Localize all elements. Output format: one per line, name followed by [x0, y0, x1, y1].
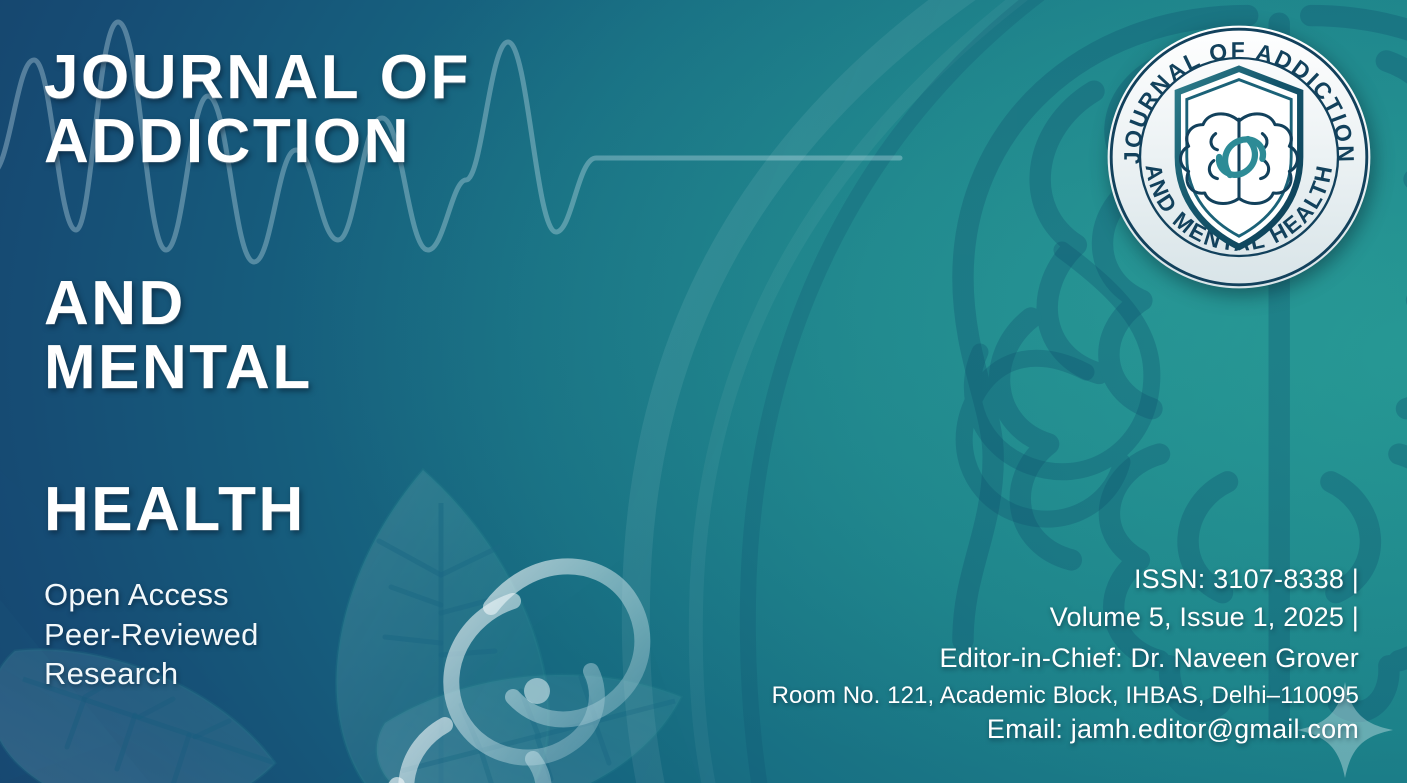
journal-cover-banner: JOURNAL OF ADDICTION AND MENTAL HEALTH O…: [0, 0, 1407, 783]
tagline-open-access: Open Access: [44, 575, 259, 615]
leaf-right: [377, 675, 681, 783]
issn-text: ISSN: 3107-8338 |: [772, 560, 1359, 598]
journal-title-tertiary: HEALTH: [44, 478, 664, 542]
tagline-research: Research: [44, 654, 259, 694]
address-text: Room No. 121, Academic Block, IHBAS, Del…: [772, 680, 1359, 712]
title-line-journal-of: JOURNAL OF: [44, 46, 664, 110]
title-line-addiction: ADDICTION: [44, 110, 664, 174]
title-line-and: AND: [44, 272, 664, 336]
email-text[interactable]: Email: jamh.editor@gmail.com: [772, 712, 1359, 747]
title-line-health: HEALTH: [44, 478, 664, 542]
journal-title-primary: JOURNAL OF ADDICTION: [44, 46, 664, 174]
journal-seal-logo: JOURNAL OF ADDICTION AND MENTAL HEALTH: [1104, 22, 1374, 292]
volume-issue-text: Volume 5, Issue 1, 2025 |: [772, 598, 1359, 636]
journal-metadata: ISSN: 3107-8338 | Volume 5, Issue 1, 202…: [772, 560, 1359, 747]
chain-link-icon: [376, 566, 642, 783]
journal-title-secondary: AND MENTAL: [44, 272, 664, 400]
journal-tagline: Open Access Peer-Reviewed Research: [44, 575, 259, 694]
editor-in-chief-text: Editor-in-Chief: Dr. Naveen Grover: [772, 639, 1359, 677]
chain-highlight: [524, 678, 550, 704]
title-line-mental: MENTAL: [44, 336, 664, 400]
tagline-peer-reviewed: Peer-Reviewed: [44, 615, 259, 655]
